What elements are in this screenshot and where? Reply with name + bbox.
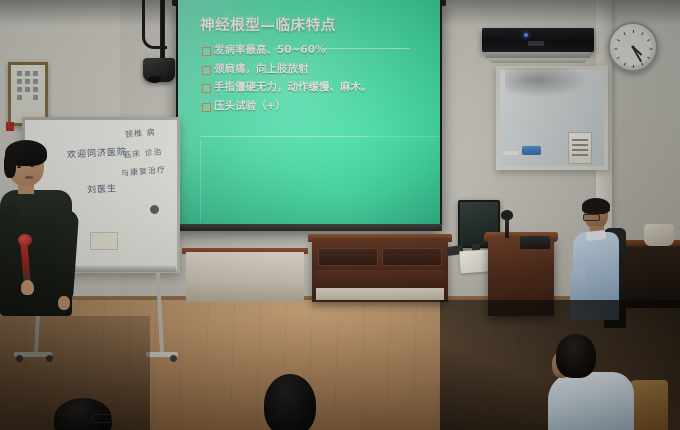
blue-eraser (522, 146, 541, 155)
glasses-icon (92, 414, 112, 423)
slide-bullet-text: 颈肩痛，向上肢放射 (214, 63, 309, 75)
presenter-eye (30, 165, 34, 167)
square-bullet-icon (202, 84, 211, 93)
whiteboard-handwriting: 与康复治疗 (121, 164, 167, 179)
clock-face (614, 28, 652, 66)
presenter-left-arm (0, 206, 20, 302)
audience-front-center (264, 374, 316, 430)
slide-rule-mid (200, 136, 368, 137)
slide-bullet-text: 压头试验（+） (214, 100, 286, 112)
whiteboard-handwriting: 欢迎同济医院 (67, 144, 128, 160)
square-bullet-icon (202, 66, 211, 75)
audience-head (556, 334, 596, 378)
slide-bullet-item: 手指僵硬无力，动作缓慢、麻木。 (202, 81, 432, 93)
ac-vent (490, 58, 586, 63)
presenter-hair-side (4, 152, 16, 178)
desk-drawer[interactable] (382, 248, 442, 266)
slide-bullet-text: 手指僵硬无力，动作缓慢、麻木。 (214, 81, 372, 93)
slide-rule-vertical (200, 140, 201, 222)
desk-drawer[interactable] (318, 248, 378, 266)
audience-front-right (548, 372, 634, 430)
whiteboard-note-card (90, 232, 118, 250)
audience-chair (628, 380, 668, 430)
presenter-mouth (25, 176, 33, 179)
slide-bullet-item: 压头试验（+） (202, 100, 432, 112)
red-wall-sticker (6, 122, 14, 131)
whiteboard-marker (503, 151, 519, 155)
glasses-icon (583, 214, 600, 221)
desk-front-panel (316, 270, 444, 288)
slide-title: 神经根型—临床特点 (200, 14, 336, 35)
air-conditioner-unit (482, 28, 594, 52)
projector-mount-pole (160, 0, 165, 62)
slide-rule-right (368, 136, 440, 137)
power-led-icon (524, 33, 528, 37)
square-bullet-icon (202, 103, 211, 112)
slide-bullet-item: 发病率最高、50~60% (202, 44, 432, 56)
audience-hair (582, 198, 610, 214)
wall-notice-sheet (568, 132, 592, 164)
whiteboard-magnet (150, 205, 159, 214)
presentation-slide: 神经根型—临床特点 发病率最高、50~60% 颈肩痛，向上肢放射 手指僵硬无力，… (178, 0, 440, 224)
projection-screen: 神经根型—临床特点 发病率最高、50~60% 颈肩痛，向上肢放射 手指僵硬无力，… (178, 0, 440, 224)
whiteboard-handwriting: 颈椎 病 (125, 127, 156, 141)
square-bullet-icon (202, 47, 211, 56)
screen-bottom-bar (176, 224, 442, 231)
clock-center-pin (632, 46, 635, 49)
presenter-hand (21, 280, 34, 295)
side-desk (186, 252, 304, 302)
whiteboard-caster-wheel (170, 355, 177, 362)
podium-microphone-head (501, 210, 513, 220)
whiteboard-handwriting: 刘医生 (87, 181, 118, 196)
classroom-lecture-photo: 神经根型—临床特点 发病率最高、50~60% 颈肩痛，向上肢放射 手指僵硬无力，… (0, 0, 680, 430)
white-bag (644, 224, 674, 246)
projector-lens-icon (148, 76, 161, 83)
whiteboard-smudge (505, 68, 589, 98)
wall-clock (608, 22, 658, 72)
desk-kick-plate (316, 288, 444, 300)
presenter-hand (58, 296, 70, 310)
whiteboard-handwriting: 临床 诊治 (123, 146, 163, 160)
slide-bullet-text: 发病率最高、50~60% (214, 44, 326, 56)
ac-logo (528, 41, 544, 46)
podium-equipment-box (520, 236, 550, 249)
presenter-eye (17, 166, 21, 168)
slide-bullet-item: 颈肩痛，向上肢放射 (202, 63, 432, 75)
slide-bullet-list: 发病率最高、50~60% 颈肩痛，向上肢放射 手指僵硬无力，动作缓慢、麻木。 压… (202, 44, 432, 118)
